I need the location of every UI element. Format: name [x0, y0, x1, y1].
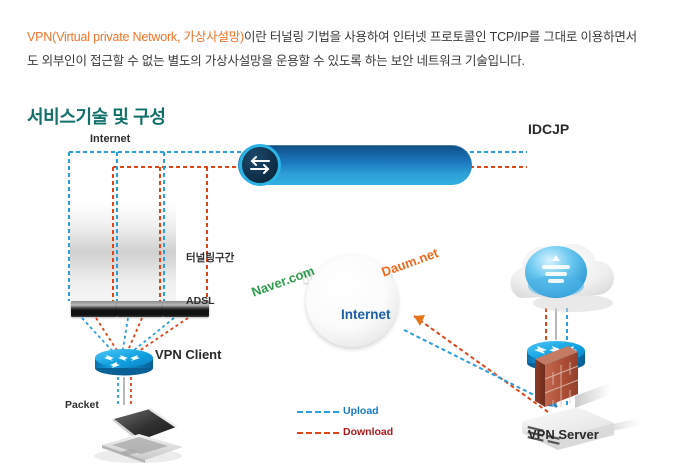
adsl-modem-2 — [117, 301, 163, 317]
internet-globe-label: Internet — [341, 307, 391, 322]
vpn-client-label: VPN Client — [155, 347, 221, 362]
network-diagram: Tunneling Internet 터널링구간 ADSL VPN Client… — [0, 115, 680, 474]
internet-link-label: Internet — [90, 133, 130, 145]
bidirectional-arrows-icon — [239, 144, 281, 186]
legend-upload-line — [297, 411, 339, 413]
vpn-client-router-icon — [95, 349, 153, 376]
packet-label: Packet — [65, 399, 99, 411]
adsl-modem-1 — [71, 301, 117, 317]
firewall-icon — [535, 346, 610, 408]
legend-download-line — [297, 432, 339, 434]
legend-upload-label: Upload — [343, 405, 379, 417]
legend-download-label: Download — [343, 426, 393, 438]
idcjp-cloud-icon — [510, 244, 614, 312]
intro-paragraph: VPN(Virtual private Network, 가상사설망)이란 터널… — [27, 25, 637, 73]
intro-highlight: VPN(Virtual private Network, 가상사설망) — [27, 30, 244, 44]
vpn-server-label: VPN Server — [528, 427, 599, 442]
adsl-label: ADSL — [186, 295, 215, 307]
idcjp-label: IDCJP — [528, 121, 569, 137]
tunnel-zone-label: 터널링구간 — [186, 250, 234, 265]
laptop-icon — [94, 408, 183, 463]
